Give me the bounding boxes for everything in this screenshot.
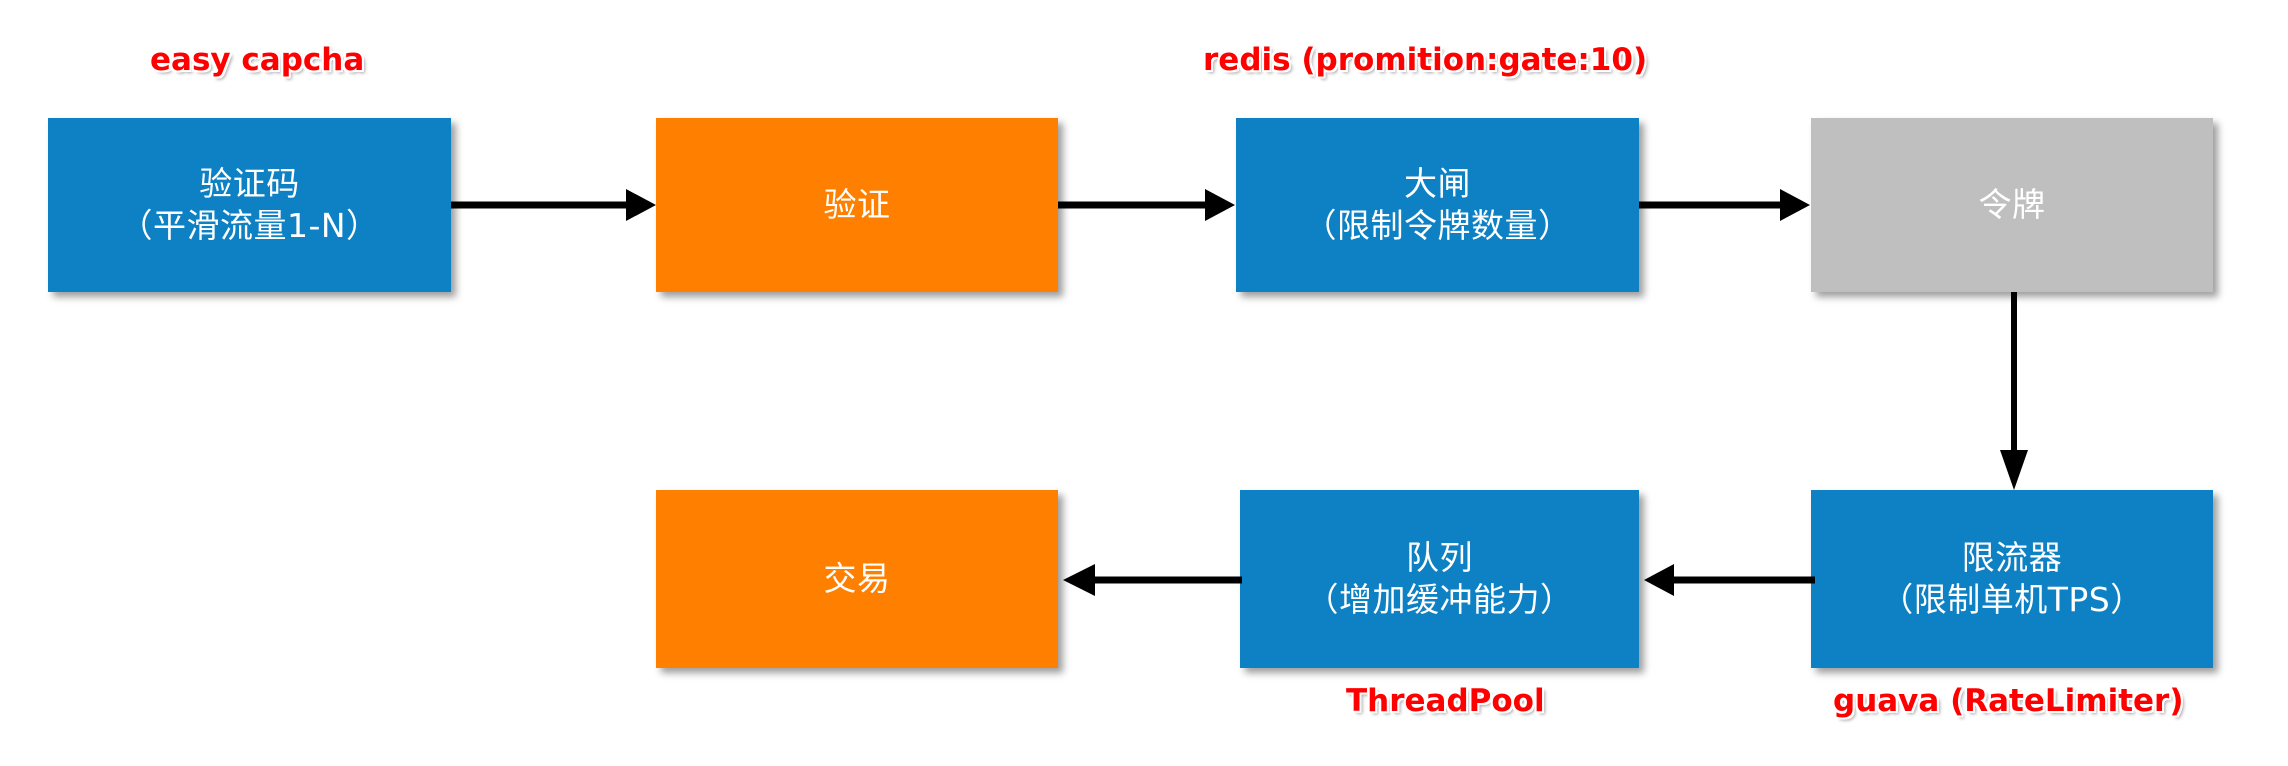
node-queue-line2: （增加缓冲能力）	[1306, 579, 1574, 621]
arrow-token-to-rate-limiter	[1992, 292, 2036, 494]
node-big-gate-line1: 大闸	[1404, 163, 1471, 205]
arrow-big-gate-to-token	[1639, 185, 1815, 225]
node-trade[interactable]: 交易	[656, 490, 1058, 668]
annotation-thread-pool: ThreadPool	[1346, 683, 1545, 719]
node-token-line1: 令牌	[1979, 184, 2046, 226]
node-verify[interactable]: 验证	[656, 118, 1058, 292]
node-captcha[interactable]: 验证码 （平滑流量1-N）	[48, 118, 451, 292]
arrow-verify-to-big-gate	[1058, 185, 1240, 225]
node-big-gate-line2: （限制令牌数量）	[1304, 205, 1572, 247]
arrow-captcha-to-verify	[451, 185, 661, 225]
node-queue-line1: 队列	[1406, 537, 1473, 579]
node-trade-line1: 交易	[824, 558, 891, 600]
node-captcha-line2: （平滑流量1-N）	[119, 205, 379, 247]
annotation-guava-ratelimiter: guava (RateLimiter)	[1833, 683, 2184, 719]
node-big-gate[interactable]: 大闸 （限制令牌数量）	[1236, 118, 1639, 292]
annotation-easy-capcha: easy capcha	[150, 42, 364, 78]
arrow-rate-limiter-to-queue	[1639, 560, 1815, 600]
node-rate-limiter[interactable]: 限流器 （限制单机TPS）	[1811, 490, 2213, 668]
arrow-queue-to-trade	[1058, 560, 1242, 600]
diagram-canvas: easy capcha redis (promition:gate:10) Th…	[0, 0, 2288, 766]
node-captcha-line1: 验证码	[199, 163, 300, 205]
annotation-redis-gate: redis (promition:gate:10)	[1203, 42, 1647, 78]
node-rate-limiter-line2: （限制单机TPS）	[1880, 579, 2144, 621]
node-queue[interactable]: 队列 （增加缓冲能力）	[1240, 490, 1639, 668]
node-token[interactable]: 令牌	[1811, 118, 2213, 292]
node-verify-line1: 验证	[824, 184, 891, 226]
node-rate-limiter-line1: 限流器	[1962, 537, 2063, 579]
